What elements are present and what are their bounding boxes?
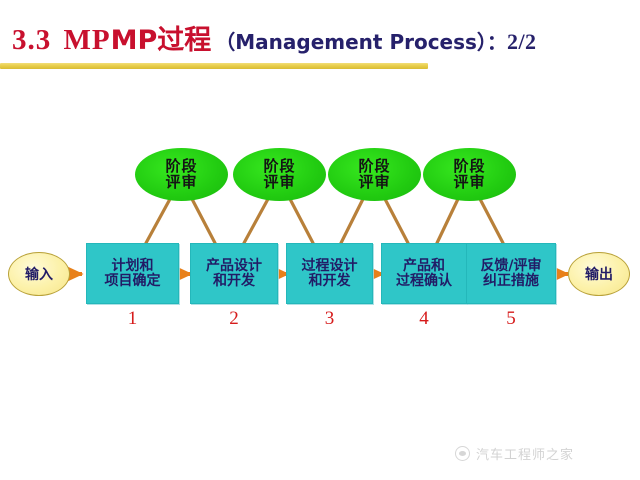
process-box-5-line2: 纠正措施	[483, 274, 539, 289]
review-node-4-line2: 评审	[453, 175, 485, 190]
process-box-5-line1: 反馈/评审	[480, 259, 541, 274]
review-connector-lines	[146, 199, 503, 243]
title-cjk: MP过程	[111, 25, 212, 56]
process-box-2-number: 2	[190, 308, 278, 330]
process-box-4-number: 4	[381, 308, 467, 330]
process-box-1-line1: 计划和	[112, 259, 154, 274]
review-node-1-line2: 评审	[165, 175, 197, 190]
watermark-text: 汽车工程师之家	[476, 444, 574, 463]
process-box-3-line2: 和开发	[309, 274, 351, 289]
title-underline-rule	[0, 63, 428, 69]
output-node-label: 输出	[585, 264, 613, 284]
page-title: 3.3 MPMP过程 （Management Process）：2/2	[12, 26, 537, 55]
title-english-paren: （Management Process）：	[215, 30, 507, 54]
process-box-3-line1: 过程设计	[302, 259, 358, 274]
title-section-number: 3.3	[12, 24, 51, 56]
review-node-2-line2: 评审	[263, 175, 295, 190]
process-box-2-line2: 和开发	[213, 274, 255, 289]
review-node-1[interactable]: 阶段 评审	[135, 148, 228, 201]
process-box-5-number: 5	[466, 308, 556, 330]
process-box-3[interactable]: 过程设计 和开发	[286, 243, 373, 304]
title-mp-label: MP	[64, 24, 111, 56]
process-box-4-line2: 过程确认	[396, 274, 452, 289]
review-node-2[interactable]: 阶段 评审	[233, 148, 326, 201]
diagram-connectors	[0, 0, 640, 480]
output-node[interactable]: 输出	[568, 252, 630, 296]
process-box-4-line1: 产品和	[403, 259, 445, 274]
process-box-1-line2: 项目确定	[105, 274, 161, 289]
process-box-2[interactable]: 产品设计 和开发	[190, 243, 278, 304]
process-box-3-number: 3	[286, 308, 373, 330]
title-page-indicator: 2/2	[507, 29, 537, 54]
process-box-2-line1: 产品设计	[206, 259, 262, 274]
input-node[interactable]: 输入	[8, 252, 70, 296]
review-node-3[interactable]: 阶段 评审	[328, 148, 421, 201]
review-node-3-line2: 评审	[358, 175, 390, 190]
paw-circle-icon	[455, 446, 470, 461]
input-node-label: 输入	[25, 264, 53, 284]
process-box-1-number: 1	[86, 308, 179, 330]
process-box-1[interactable]: 计划和 项目确定	[86, 243, 179, 304]
process-box-5[interactable]: 反馈/评审 纠正措施	[466, 243, 556, 304]
process-box-4[interactable]: 产品和 过程确认	[381, 243, 467, 304]
watermark: 汽车工程师之家	[455, 444, 574, 463]
review-node-4[interactable]: 阶段 评审	[423, 148, 516, 201]
slide-canvas: 3.3 MPMP过程 （Management Process）：2/2	[0, 0, 640, 480]
